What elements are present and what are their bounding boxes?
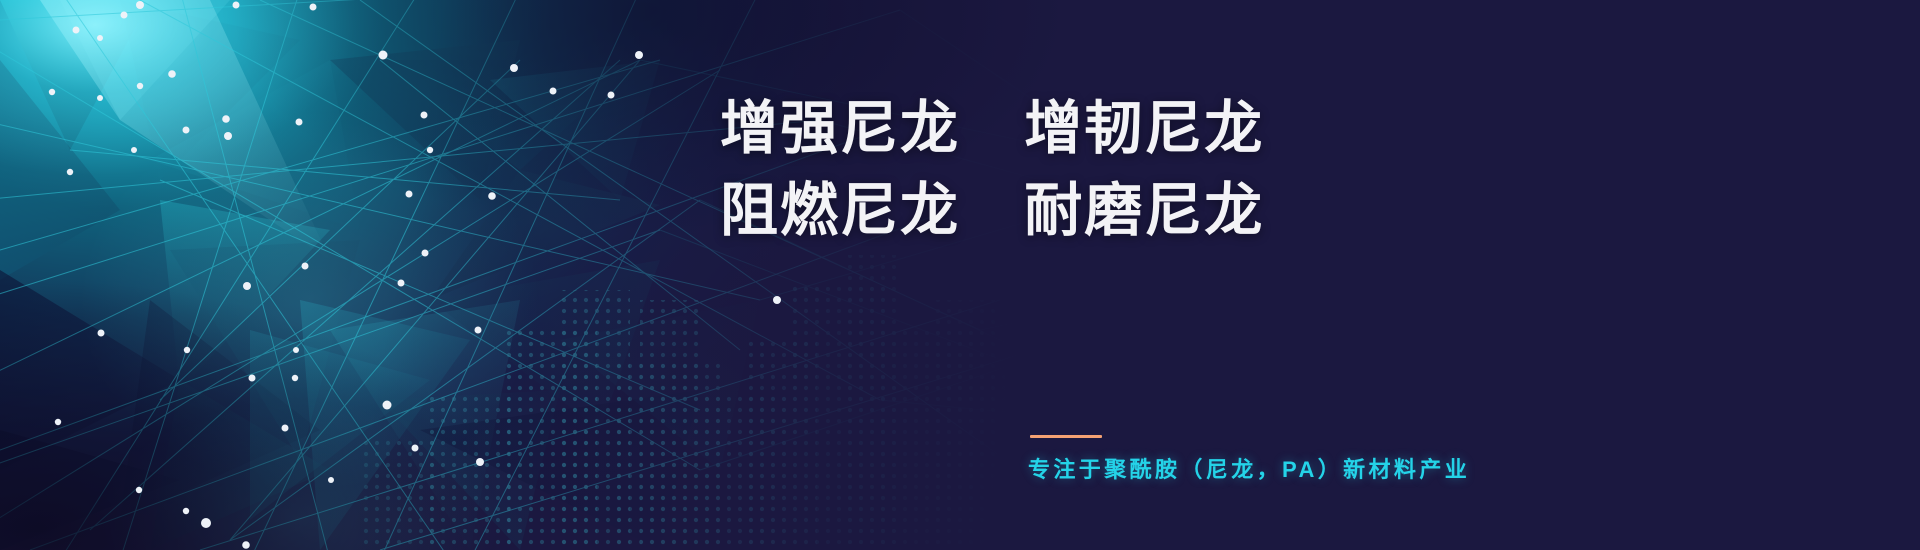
subtitle: 专注于聚酰胺（尼龙，PA）新材料产业	[1028, 452, 1470, 484]
accent-divider	[1030, 435, 1102, 438]
banner-content: 增强尼龙 增韧尼龙 阻燃尼龙 耐磨尼龙 专注于聚酰胺（尼龙，PA）新材料产业	[720, 0, 1420, 550]
headline-line-1: 增强尼龙 增韧尼龙	[720, 88, 1420, 170]
headline-line-2: 阻燃尼龙 耐磨尼龙	[720, 170, 1420, 252]
headline: 增强尼龙 增韧尼龙 阻燃尼龙 耐磨尼龙	[720, 88, 1420, 253]
headline-line-2-left: 阻燃尼龙	[720, 178, 960, 243]
headline-line-1-right: 增韧尼龙	[1024, 96, 1264, 161]
headline-line-1-left: 增强尼龙	[720, 96, 960, 161]
hero-banner: 增强尼龙 增韧尼龙 阻燃尼龙 耐磨尼龙 专注于聚酰胺（尼龙，PA）新材料产业	[0, 0, 1920, 550]
headline-line-2-right: 耐磨尼龙	[1024, 178, 1264, 243]
